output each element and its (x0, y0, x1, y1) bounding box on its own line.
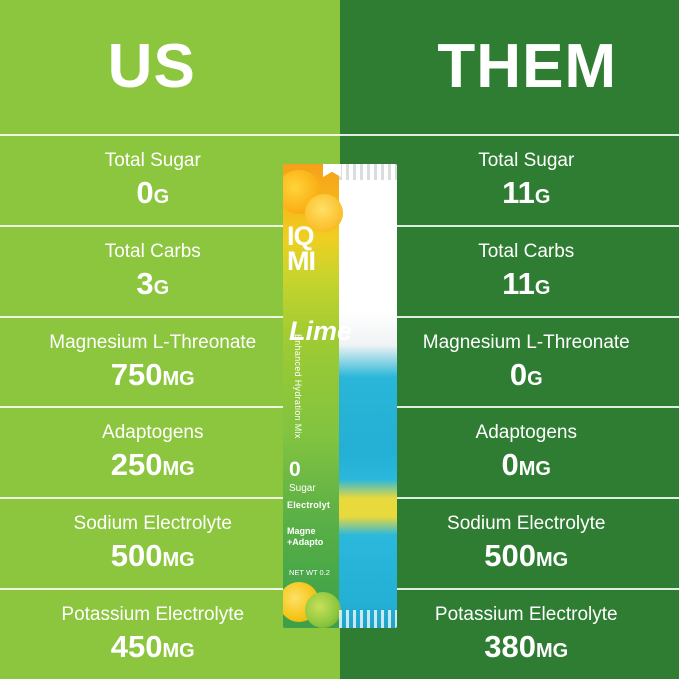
row-value: 11G (502, 177, 550, 208)
row-value-amount: 11 (502, 175, 535, 210)
row-value: 0G (136, 177, 169, 208)
packet-magnesium-line2: +Adapto (287, 537, 323, 548)
them-heading: THEM (340, 0, 679, 134)
row-label: Magnesium L-Threonate (423, 333, 630, 354)
row-value: 380MG (484, 631, 568, 662)
packet-subtitle: Enhanced Hydration Mix (293, 334, 303, 454)
row-value-unit: G (154, 277, 170, 299)
row-value-unit: G (535, 186, 551, 208)
row-value-amount: 250 (111, 447, 163, 482)
product-packet-image: IQ MI Lime Enhanced Hydration Mix 0 Suga… (283, 164, 397, 628)
row-value-unit: G (154, 186, 170, 208)
row-value-amount: 750 (111, 357, 163, 392)
row-label: Adaptogens (102, 423, 203, 444)
row-value: 500MG (484, 540, 568, 571)
row-label: Sodium Electrolyte (447, 514, 605, 535)
us-heading: US (0, 0, 340, 134)
row-value-amount: 0 (510, 357, 527, 392)
row-value-unit: G (535, 277, 551, 299)
row-value-amount: 450 (111, 629, 163, 664)
comparison-infographic: US Total Sugar 0G Total Carbs 3G Magnesi… (0, 0, 679, 679)
row-label: Total Carbs (105, 242, 201, 263)
packet-net-weight: NET WT 0.2 (289, 568, 330, 577)
packet-sugar-amount: 0 (289, 458, 301, 481)
row-value: 0G (510, 359, 543, 390)
row-value-unit: MG (163, 549, 195, 571)
packet-back-face (339, 164, 397, 628)
row-value-amount: 500 (111, 538, 163, 573)
row-value-amount: 11 (502, 266, 535, 301)
packet-brand-logo: IQ MI (287, 224, 339, 274)
row-value-amount: 380 (484, 629, 536, 664)
row-value-unit: MG (163, 458, 195, 480)
row-value: 450MG (111, 631, 195, 662)
row-value-unit: MG (536, 640, 568, 662)
row-value-amount: 3 (136, 266, 153, 301)
row-label: Total Sugar (105, 151, 201, 172)
row-value-amount: 0 (136, 175, 153, 210)
packet-body: IQ MI Lime Enhanced Hydration Mix 0 Suga… (283, 164, 397, 628)
packet-sugar-label: Sugar (289, 483, 316, 494)
row-label: Potassium Electrolyte (435, 605, 618, 626)
row-value: 750MG (111, 359, 195, 390)
row-value-unit: MG (536, 549, 568, 571)
row-value-unit: G (527, 368, 543, 390)
row-label: Total Carbs (478, 242, 574, 263)
packet-magnesium-claim: Magne +Adapto (287, 526, 323, 549)
packet-magnesium-line1: Magne (287, 526, 323, 537)
packet-electrolytes-claim: Electrolyt (287, 500, 330, 510)
row-label: Magnesium L-Threonate (49, 333, 256, 354)
row-value-unit: MG (519, 458, 551, 480)
packet-logo-line2: MI (287, 249, 339, 274)
packet-bottom-serration (339, 610, 397, 628)
row-value-unit: MG (163, 368, 195, 390)
row-label: Total Sugar (478, 151, 574, 172)
row-value: 0MG (502, 449, 551, 480)
row-value-amount: 500 (484, 538, 536, 573)
row-value-unit: MG (163, 640, 195, 662)
row-label: Potassium Electrolyte (61, 605, 244, 626)
row-value: 3G (136, 268, 169, 299)
row-value: 500MG (111, 540, 195, 571)
packet-top-serration (339, 164, 397, 180)
row-value: 11G (502, 268, 550, 299)
row-label: Sodium Electrolyte (74, 514, 232, 535)
row-label: Adaptogens (476, 423, 577, 444)
row-value-amount: 0 (502, 447, 519, 482)
packet-sugar-claim: 0 Sugar (289, 458, 316, 494)
row-value: 250MG (111, 449, 195, 480)
lime-slice-icon (305, 592, 341, 628)
